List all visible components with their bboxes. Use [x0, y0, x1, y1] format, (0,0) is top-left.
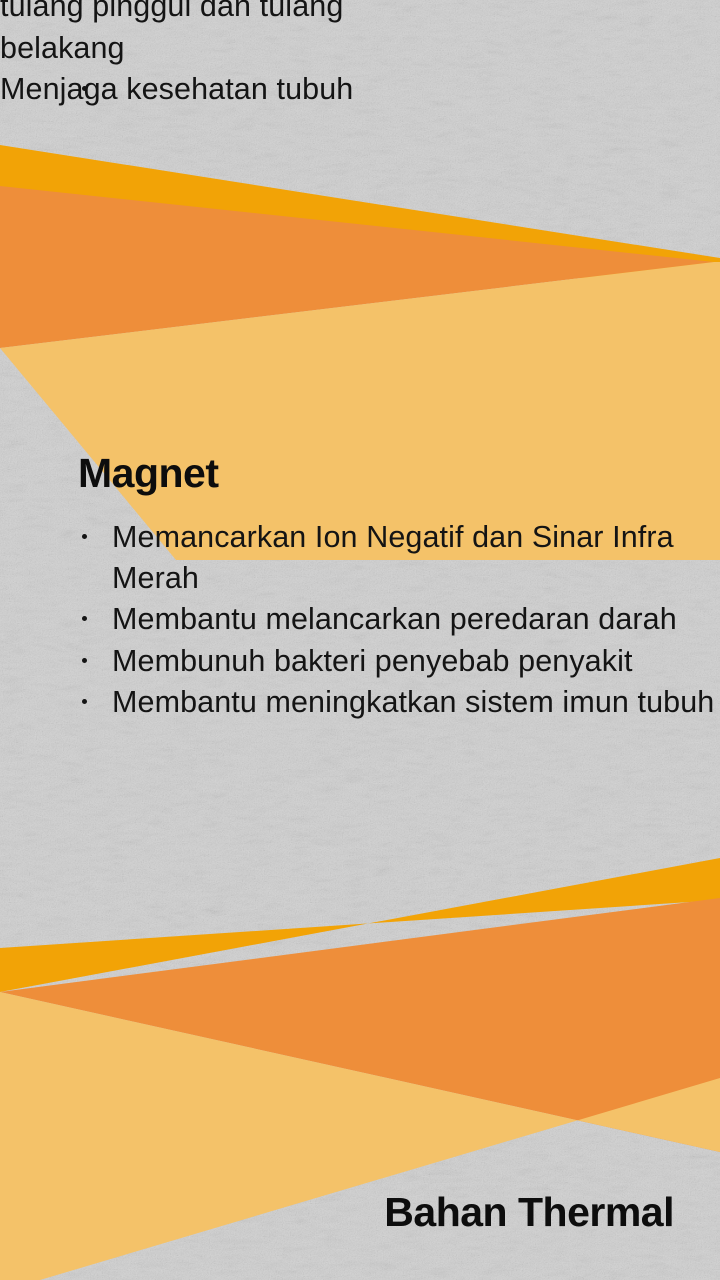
list-item-label: belakang [0, 31, 125, 65]
top-text-block: tulang pinggul dan tulang belakang Menja… [0, 0, 640, 111]
bullet-dot-icon [82, 699, 87, 704]
list-item: Membantu melancarkan peredaran darah [78, 599, 718, 640]
list-item: belakang [0, 28, 640, 69]
magnet-section: Magnet Memancarkan Ion Negatif dan Sinar… [78, 452, 718, 724]
list-item-label: Membantu melancarkan peredaran darah [112, 602, 677, 636]
bottom-heading: Bahan Thermal [0, 1190, 720, 1235]
list-item: Membunuh bakteri penyebab penyakit [78, 641, 718, 682]
bullet-dot-icon [82, 616, 87, 621]
list-item: Memancarkan Ion Negatif dan Sinar Infra … [78, 517, 718, 598]
list-item-label: Menjaga kesehatan tubuh [0, 72, 353, 106]
slide-content: tulang pinggul dan tulang belakang Menja… [0, 0, 720, 1280]
list-item: Membantu meningkatkan sistem imun tubuh [78, 682, 718, 723]
list-item-label: Membantu meningkatkan sistem imun tubuh [112, 685, 714, 719]
list-item: tulang pinggul dan tulang [0, 0, 640, 27]
slide-canvas: tulang pinggul dan tulang belakang Menja… [0, 0, 720, 1280]
top-bullet-list: tulang pinggul dan tulang belakang Menja… [0, 0, 640, 110]
list-item: Menjaga kesehatan tubuh [0, 69, 640, 110]
bottom-section: Bahan Thermal [0, 1190, 720, 1235]
bullet-dot-icon [82, 534, 87, 539]
list-item-label: tulang pinggul dan tulang [0, 0, 343, 23]
magnet-heading: Magnet [78, 452, 718, 495]
bullet-dot-icon [82, 658, 87, 663]
magnet-bullet-list: Memancarkan Ion Negatif dan Sinar Infra … [78, 517, 718, 723]
list-item-label: Memancarkan Ion Negatif dan Sinar Infra … [112, 520, 674, 595]
list-item-label: Membunuh bakteri penyebab penyakit [112, 644, 633, 678]
